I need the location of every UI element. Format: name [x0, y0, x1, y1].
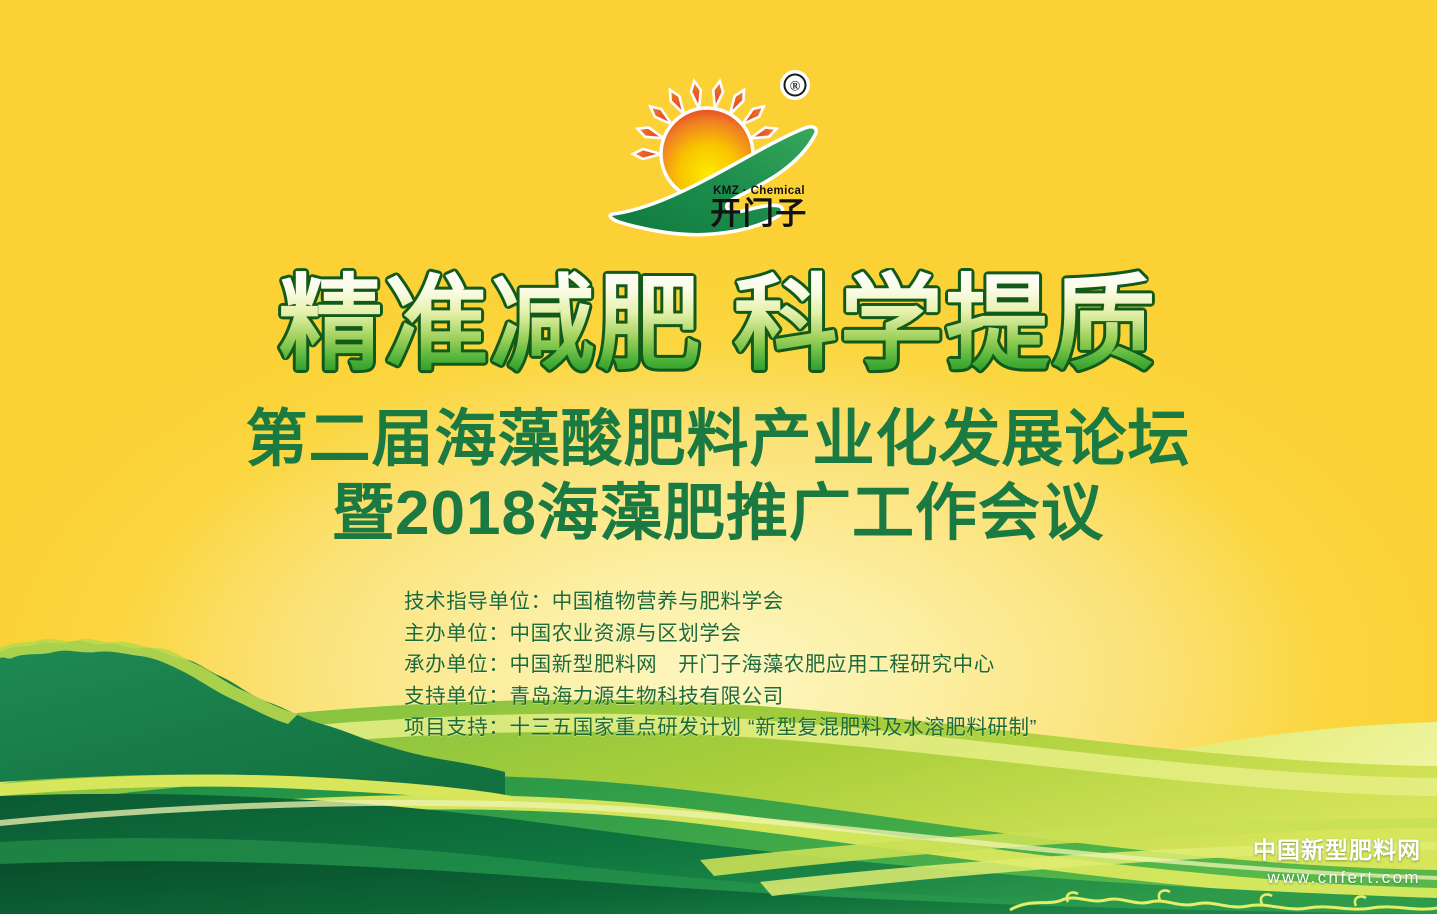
company-logo: ® KMZ · Chemical 开门子: [599, 62, 839, 242]
credits-block: 技术指导单位：中国植物营养与肥料学会 主办单位：中国农业资源与区划学会 承办单位…: [404, 586, 1037, 744]
credit-line-project-support: 项目支持：十三五国家重点研发计划 “新型复混肥料及水溶肥料研制”: [404, 712, 1037, 744]
watermark-url: www.cnfert.com: [1253, 869, 1421, 886]
credit-line-technical-guidance: 技术指导单位：中国植物营养与肥料学会: [404, 586, 1037, 618]
subtitle-line-2: 暨2018海藻肥推广工作会议: [332, 479, 1104, 548]
credit-line-undertaker: 承办单位：中国新型肥料网 开门子海藻农肥应用工程研究中心: [404, 649, 1037, 681]
subtitle-block: 第二届海藻酸肥料产业化发展论坛 暨2018海藻肥推广工作会议: [0, 398, 1437, 558]
subtitle-line-1: 第二届海藻酸肥料产业化发展论坛: [245, 405, 1190, 474]
credit-line-organizer: 主办单位：中国农业资源与区划学会: [404, 618, 1037, 650]
credit-line-supporter: 支持单位：青岛海力源生物科技有限公司: [404, 681, 1037, 713]
headline-text: 精准减肥 科学提质: [279, 268, 1158, 383]
site-watermark: 中国新型肥料网 www.cnfert.com: [1253, 839, 1421, 886]
registered-symbol-glyph: ®: [789, 80, 800, 95]
registered-trademark-icon: ®: [780, 70, 810, 100]
brand-cn-label: 开门子: [710, 196, 808, 231]
headline-block: 精准减肥 科学提质: [0, 268, 1437, 388]
watermark-site-name: 中国新型肥料网: [1253, 839, 1421, 862]
poster-canvas: ® KMZ · Chemical 开门子 精准减肥 科学提质: [0, 0, 1437, 914]
